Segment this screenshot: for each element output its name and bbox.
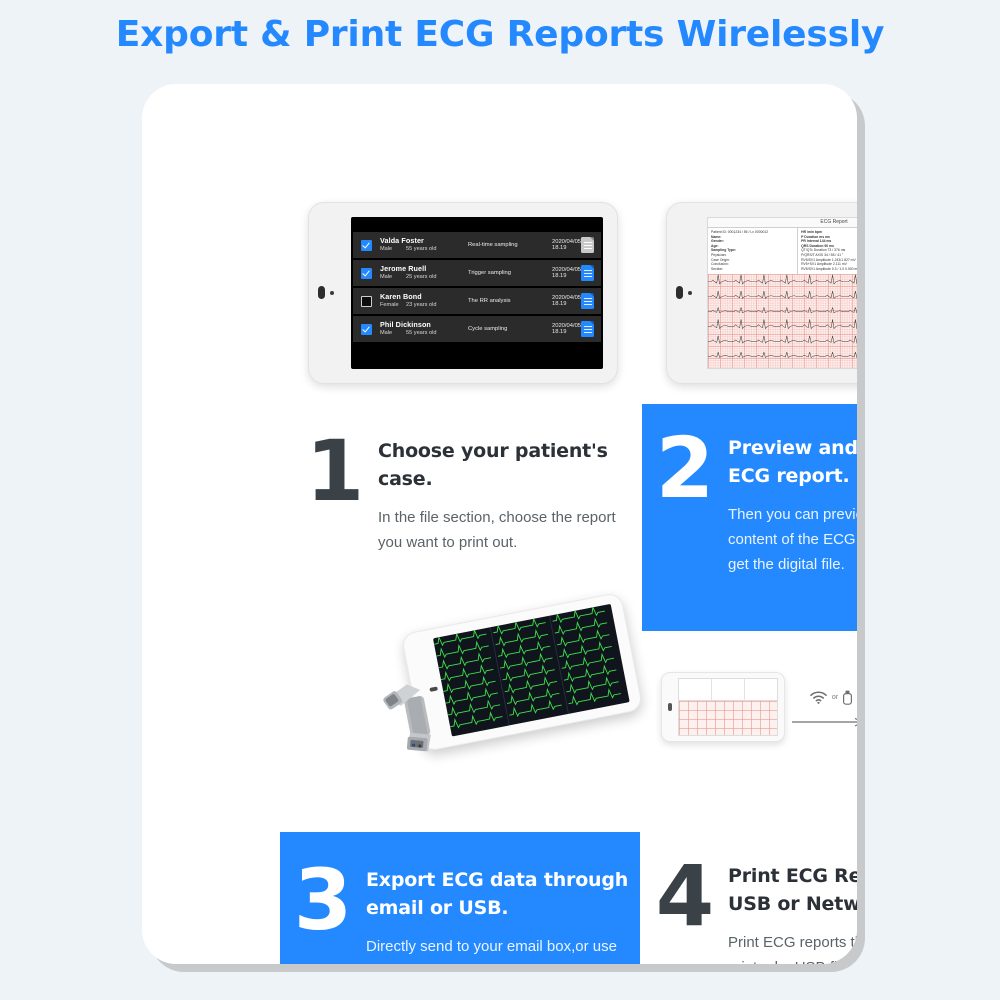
patient-identity: Valda FosterMale55 years old	[380, 237, 468, 253]
report-line: Section:	[711, 267, 794, 272]
step-2-heading: Preview and export the ECG report.	[728, 434, 857, 490]
step-1-heading: Choose your patient's case.	[378, 437, 642, 493]
sampling-type: The RR analysis	[468, 298, 552, 304]
step-2-number: 2	[642, 426, 728, 631]
step-3-heading: Export ECG data through email or USB.	[366, 866, 640, 922]
home-button-icon	[318, 286, 325, 299]
ecg-report-title: ECG Report	[708, 218, 857, 228]
patient-row[interactable]: Karen BondFemale23 years oldThe RR analy…	[353, 288, 601, 314]
or-label: or	[832, 694, 838, 701]
sampling-type: Cycle sampling	[468, 326, 552, 332]
patient-checkbox[interactable]	[361, 268, 372, 279]
patient-checkbox[interactable]	[361, 240, 372, 251]
ecg-report-header-table: Patient ID: 0001234 / 55 / Lv 0000012Nam…	[708, 228, 857, 275]
step-4: 4 Print ECG Reports with USB or Network …	[642, 854, 857, 964]
patient-list[interactable]: Valda FosterMale55 years oldReal-time sa…	[351, 232, 603, 354]
record-datetime: 2020/04/05 18.19	[552, 239, 581, 251]
report-column-patient: Patient ID: 0001234 / 55 / Lv 0000012Nam…	[708, 228, 798, 274]
patient-row[interactable]: Valda FosterMale55 years oldReal-time sa…	[353, 232, 601, 258]
usb-dual-head-flash-drive-icon	[378, 670, 466, 761]
tablet-ecg-report: ECG Report Patient ID: 0001234 / 55 / Lv…	[666, 202, 857, 384]
step-2-text: Then you can preview the format and cont…	[728, 502, 857, 577]
ecg-waveform-grid	[708, 274, 857, 368]
camera-dot-icon	[688, 291, 692, 295]
record-datetime: 2020/04/05 18.19	[552, 295, 581, 307]
mini-col-3	[745, 679, 777, 700]
step-4-heading: Print ECG Reports with USB or Network Pr…	[728, 862, 857, 918]
home-button-icon	[668, 703, 672, 711]
mini-col-2	[712, 679, 745, 700]
arrow-right-icon	[792, 718, 857, 728]
mini-ecg-grid	[679, 701, 777, 735]
step-3-number: 3	[280, 858, 366, 964]
report-line: RV5/SV1 Amplitude 0.3 / 1.0 0.000 mV	[801, 267, 857, 272]
patient-identity: Karen BondFemale23 years old	[380, 293, 468, 309]
patient-row[interactable]: Jerome RuellMale25 years oldTrigger samp…	[353, 260, 601, 286]
patient-name: Phil Dickinson	[380, 321, 468, 329]
record-datetime: 2020/04/05 18.19	[552, 267, 581, 279]
patient-demographics: Male55 years old	[380, 246, 468, 252]
mini-col-1	[679, 679, 712, 700]
report-document-icon[interactable]	[581, 265, 594, 281]
mini-report-header	[679, 679, 777, 701]
sampling-type: Trigger sampling	[468, 270, 552, 276]
step-3: 3 Export ECG data through email or USB. …	[280, 832, 640, 964]
mini-report-screen	[678, 678, 778, 736]
patient-demographics: Female23 years old	[380, 302, 468, 308]
step-2: 2 Preview and export the ECG report. The…	[642, 404, 857, 631]
step-1: 1 Choose your patient's case. In the fil…	[292, 429, 642, 609]
report-document-icon[interactable]	[581, 321, 594, 337]
green-ecg-traces	[433, 604, 630, 737]
mini-tablet-report	[661, 672, 785, 742]
sampling-type: Real-time sampling	[468, 242, 552, 248]
patient-list-screen: Valda FosterMale55 years oldReal-time sa…	[351, 217, 603, 369]
step-1-number: 1	[292, 429, 378, 609]
step-4-number: 4	[642, 854, 728, 964]
step-1-text: In the file section, choose the report y…	[378, 505, 642, 555]
report-document-icon[interactable]	[581, 293, 594, 309]
patient-demographics: Male55 years old	[380, 330, 468, 336]
patient-identity: Phil DickinsonMale55 years old	[380, 321, 468, 337]
patient-name: Jerome Ruell	[380, 265, 468, 273]
infographic-card: Valda FosterMale55 years oldReal-time sa…	[142, 84, 857, 964]
patient-checkbox[interactable]	[361, 324, 372, 335]
patient-name: Karen Bond	[380, 293, 468, 301]
report-document-icon[interactable]	[581, 237, 594, 253]
wifi-icon	[810, 691, 827, 704]
transfer-method-group: or	[792, 686, 857, 732]
page-title: Export & Print ECG Reports Wirelessly	[0, 14, 1000, 55]
record-datetime: 2020/04/05 18.19	[552, 323, 581, 335]
patient-row[interactable]: Phil DickinsonMale55 years oldCycle samp…	[353, 316, 601, 342]
ecg-report-screen: ECG Report Patient ID: 0001234 / 55 / Lv…	[707, 217, 857, 369]
green-ecg-screen	[433, 604, 630, 737]
patient-identity: Jerome RuellMale25 years old	[380, 265, 468, 281]
usb-stick-icon	[843, 690, 852, 705]
ecg-traces	[708, 274, 857, 368]
tablet-patient-list: Valda FosterMale55 years oldReal-time sa…	[308, 202, 618, 384]
patient-checkbox[interactable]	[361, 296, 372, 307]
step-3-text: Directly send to your email box,or use t…	[366, 934, 640, 964]
patient-demographics: Male25 years old	[380, 274, 468, 280]
home-button-icon	[676, 286, 683, 299]
step-4-text: Print ECG reports through an external pr…	[728, 930, 857, 964]
camera-dot-icon	[330, 291, 334, 295]
report-column-measurements: HR /min bpmP Duration ms msPR Interval 1…	[798, 228, 857, 274]
patient-name: Valda Foster	[380, 237, 468, 245]
